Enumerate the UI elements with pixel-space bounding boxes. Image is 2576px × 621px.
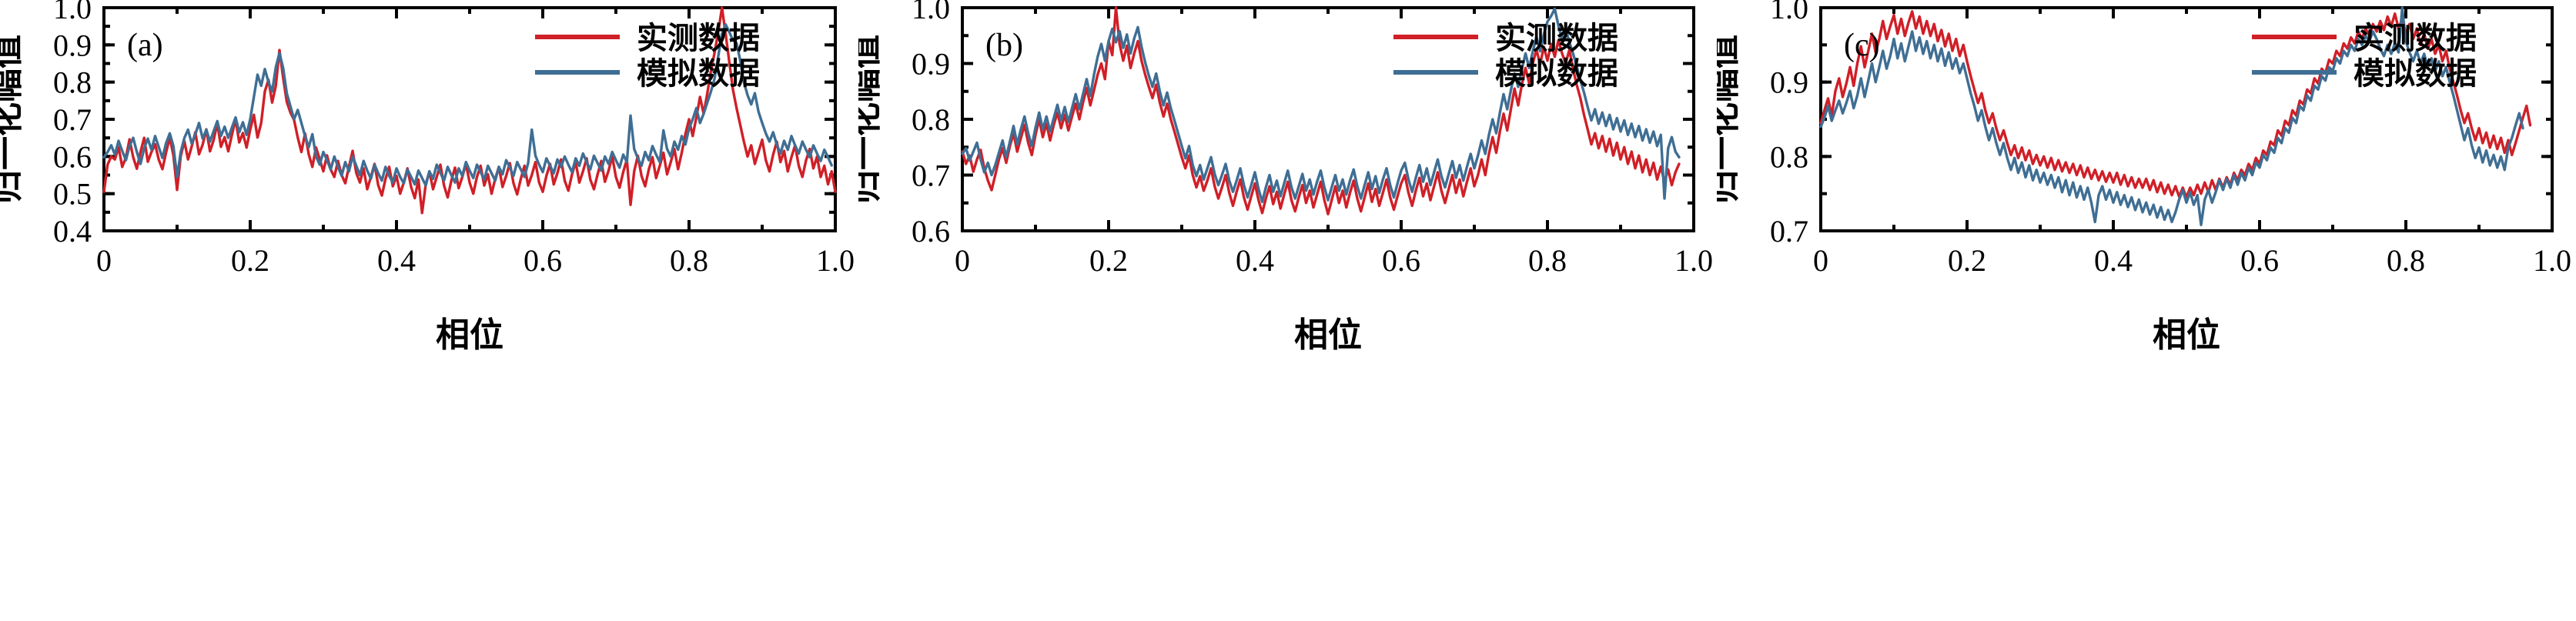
y-tick-label: 0.9: [912, 47, 950, 82]
y-tick-label: 0.9: [53, 28, 92, 62]
y-tick-label: 0.4: [53, 214, 92, 249]
panel-letter: (b): [985, 28, 1023, 63]
legend-label-simulated: 模拟数据: [2354, 56, 2477, 91]
y-tick-label: 1.0: [1770, 0, 1808, 25]
x-tick-label: 0.4: [377, 243, 416, 278]
legend: 实测数据模拟数据: [2252, 21, 2477, 91]
y-tick-label: 0.6: [912, 214, 950, 249]
x-tick-label: 0: [1813, 243, 1828, 278]
chart-panel-c: 00.20.40.60.81.00.70.80.91.0(c)实测数据模拟数据相…: [1717, 0, 2575, 621]
panel-letter: (c): [1844, 28, 1880, 63]
x-tick-label: 0.8: [670, 243, 708, 278]
x-tick-label: 0.6: [1382, 243, 1420, 278]
x-axis-title: 相位: [1294, 316, 1362, 354]
y-tick-label: 0.7: [912, 159, 950, 193]
chart-panel-b: 00.20.40.60.81.00.60.70.80.91.0(b)实测数据模拟…: [858, 0, 1717, 621]
y-tick-label: 0.7: [1770, 214, 1808, 249]
y-tick-label: 0.7: [53, 102, 92, 137]
x-tick-label: 0.8: [1528, 243, 1567, 278]
y-axis-title: 归一化幅值: [858, 35, 884, 204]
figure-container: 00.20.40.60.81.00.40.50.60.70.80.91.0(a)…: [0, 0, 2576, 621]
legend-label-measured: 实测数据: [1495, 21, 1618, 55]
y-tick-label: 0.8: [912, 102, 950, 137]
x-tick-label: 0.6: [2240, 243, 2279, 278]
x-tick-label: 0: [955, 243, 970, 278]
y-tick-label: 0.5: [53, 177, 92, 212]
x-tick-label: 0.2: [1089, 243, 1128, 278]
legend: 实测数据模拟数据: [1393, 21, 1618, 91]
legend-label-measured: 实测数据: [637, 21, 760, 55]
panel-letter: (a): [127, 28, 163, 63]
x-tick-label: 1.0: [816, 243, 855, 278]
y-tick-label: 0.8: [1770, 139, 1808, 174]
x-tick-label: 0.2: [231, 243, 269, 278]
y-axis-title: 归一化幅值: [0, 35, 25, 204]
chart-panel-a: 00.20.40.60.81.00.40.50.60.70.80.91.0(a)…: [0, 0, 858, 621]
legend: 实测数据模拟数据: [535, 21, 760, 91]
legend-label-measured: 实测数据: [2354, 21, 2477, 55]
legend-label-simulated: 模拟数据: [637, 56, 760, 91]
y-tick-label: 1.0: [53, 0, 92, 25]
y-tick-label: 1.0: [912, 0, 950, 25]
x-tick-label: 0.6: [524, 243, 562, 278]
x-tick-label: 0.4: [1236, 243, 1274, 278]
x-tick-label: 0: [96, 243, 112, 278]
y-tick-label: 0.8: [53, 65, 92, 100]
y-tick-label: 0.6: [53, 139, 92, 174]
x-tick-label: 1.0: [2533, 243, 2571, 278]
x-tick-label: 0.2: [1948, 243, 1986, 278]
y-tick-label: 0.9: [1770, 65, 1808, 100]
x-axis-title: 相位: [2153, 316, 2220, 354]
x-tick-label: 0.8: [2387, 243, 2425, 278]
x-tick-label: 0.4: [2094, 243, 2133, 278]
legend-label-simulated: 模拟数据: [1495, 56, 1618, 91]
x-axis-title: 相位: [436, 316, 503, 354]
y-axis-title: 归一化幅值: [1717, 35, 1742, 204]
x-tick-label: 1.0: [1674, 243, 1713, 278]
